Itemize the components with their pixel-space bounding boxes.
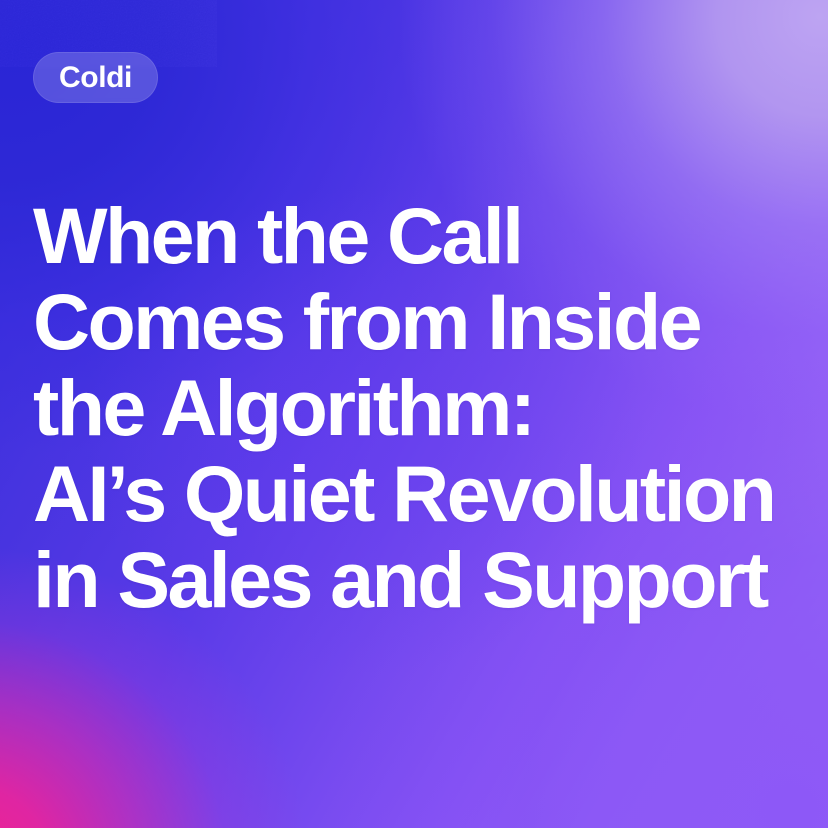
headline-line-2: Comes from Inside [33,279,804,365]
headline-line-5: in Sales and Support [33,537,804,623]
headline-line-3: the Algorithm: [33,365,804,451]
headline-title: When the Call Comes from Inside the Algo… [33,193,804,623]
brand-badge[interactable]: Coldi [33,52,158,103]
content-layer: Coldi When the Call Comes from Inside th… [0,0,828,828]
cover-card: Coldi When the Call Comes from Inside th… [0,0,828,828]
headline-line-4: AI’s Quiet Revolution [33,451,804,537]
headline-line-1: When the Call [33,193,804,279]
brand-name-label: Coldi [59,63,132,93]
